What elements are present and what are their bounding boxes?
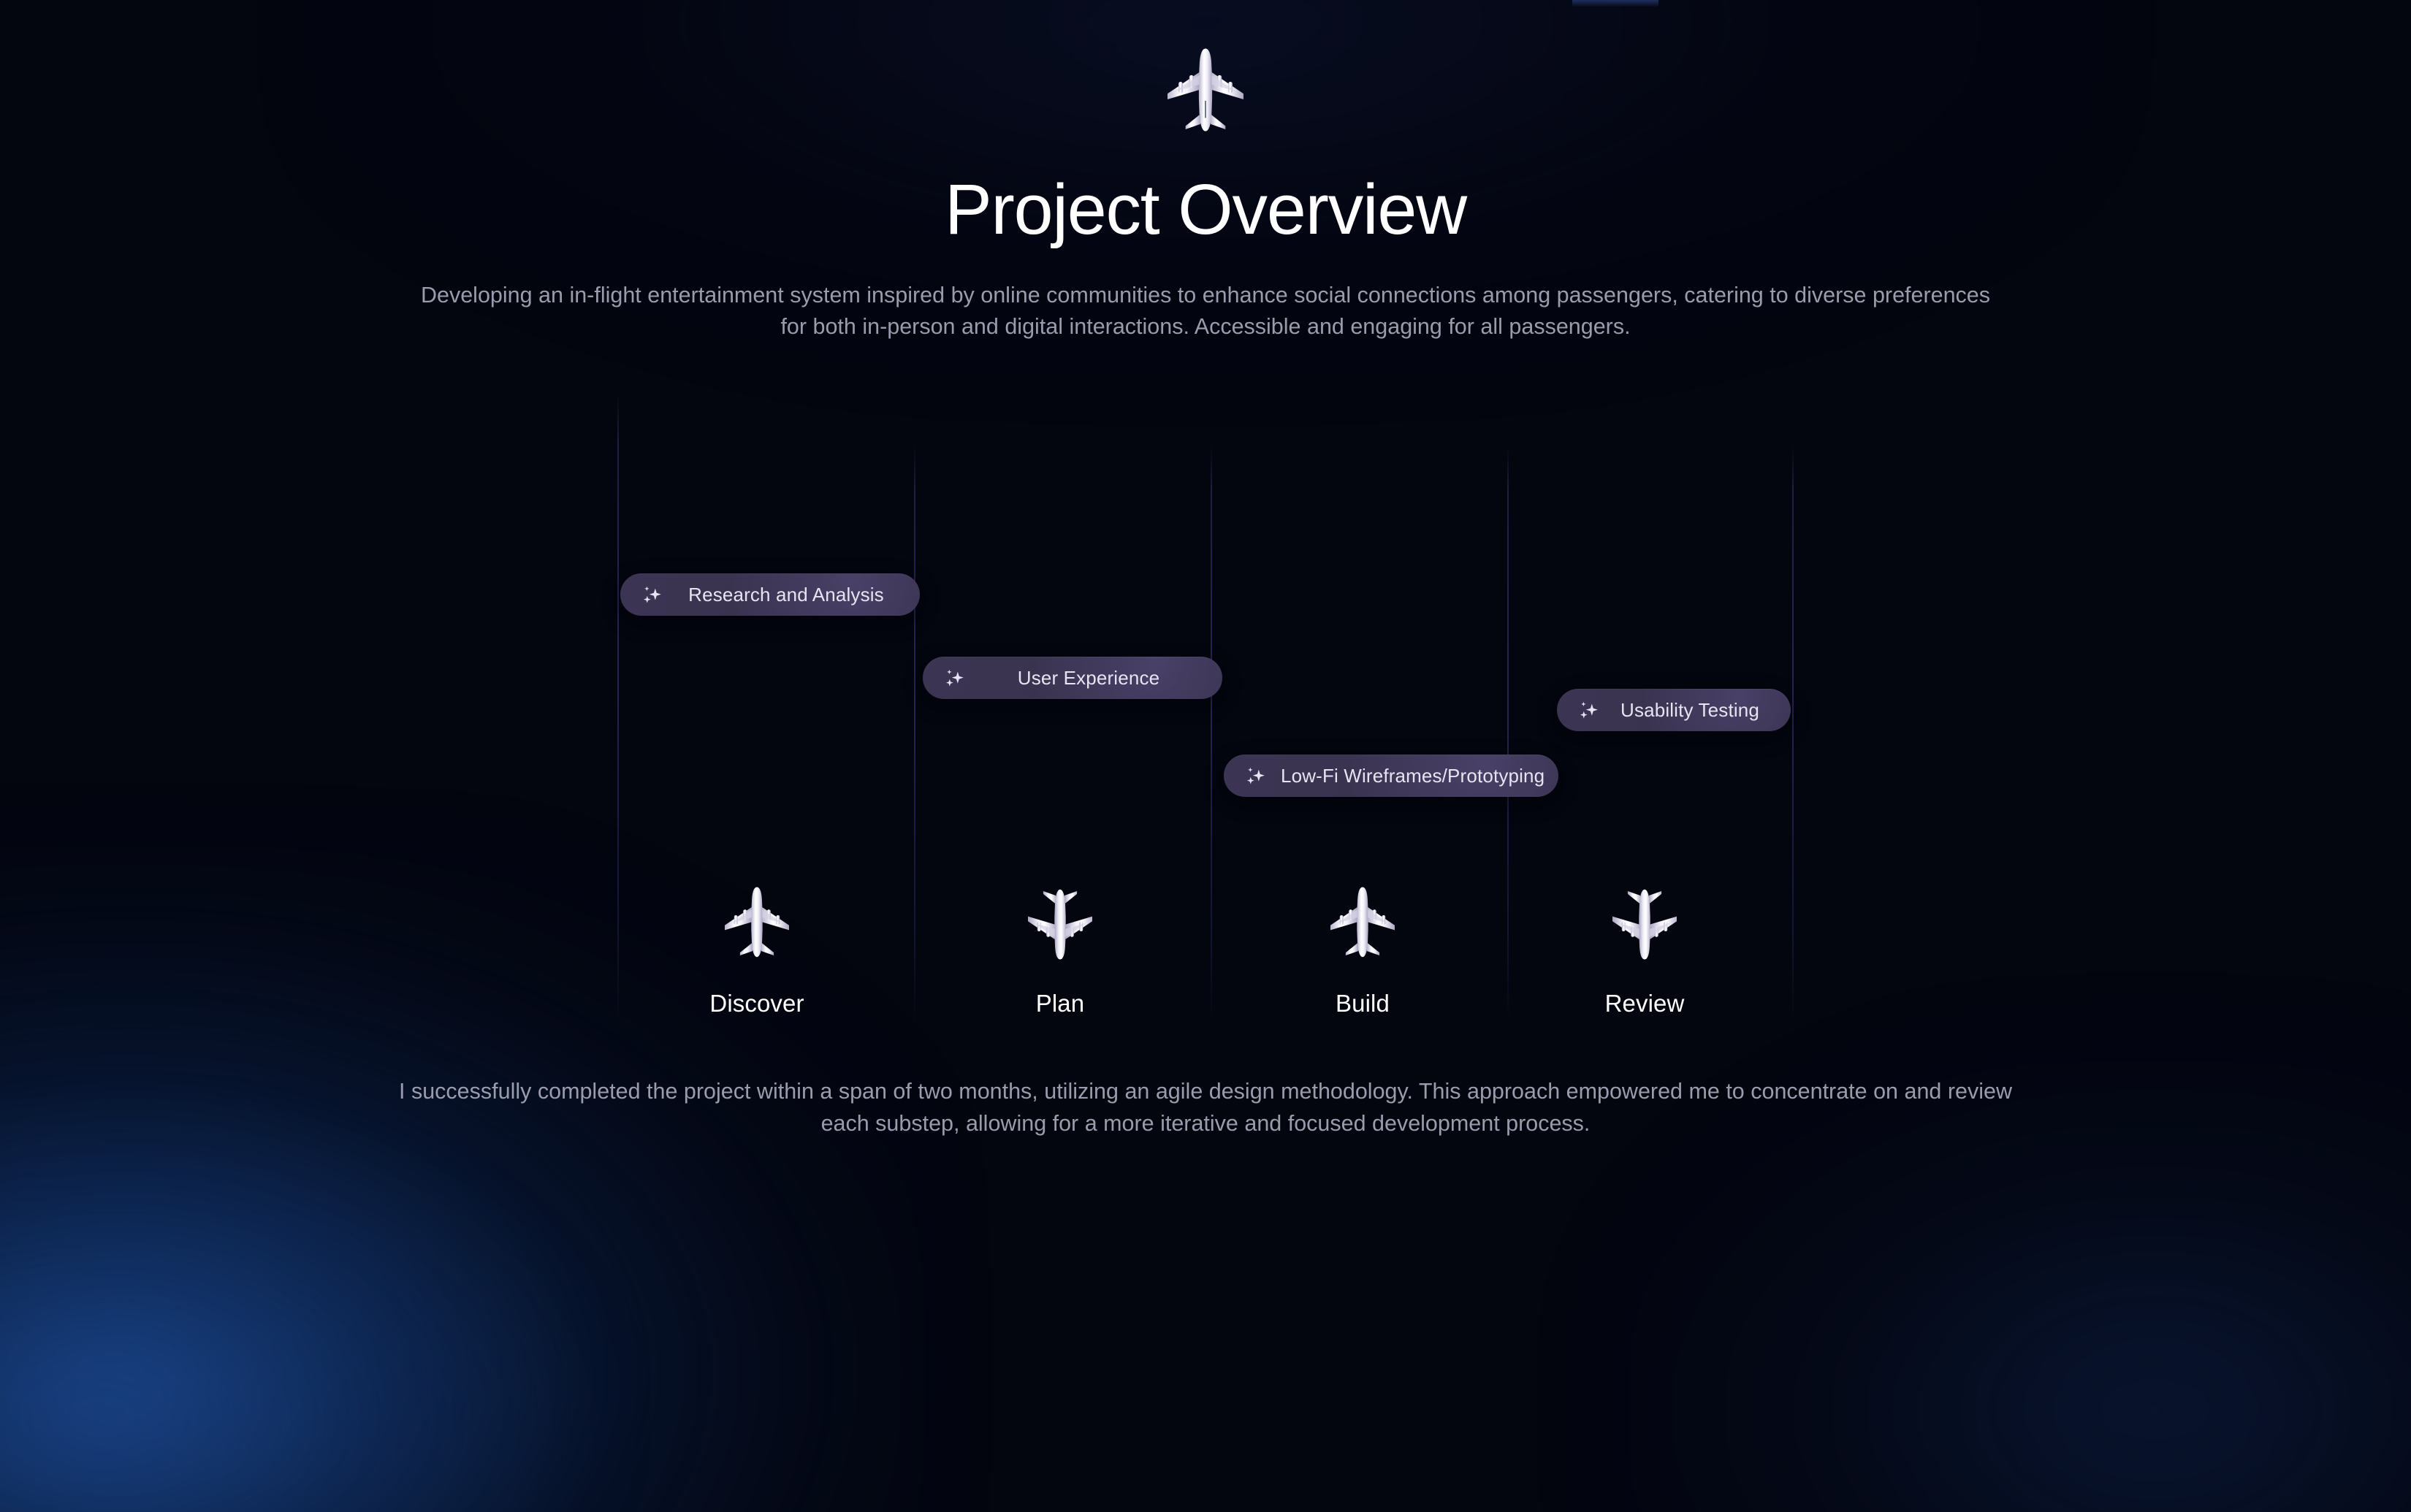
timeline-stage-label: Build — [1336, 990, 1390, 1017]
airplane-icon — [1158, 44, 1253, 139]
page-content: Project Overview Developing an in-flight… — [0, 0, 2411, 1166]
page-subtitle: Developing an in-flight entertainment sy… — [420, 280, 1991, 343]
timeline: Research and Analysis User Experience — [617, 372, 1794, 1102]
airplane-icon — [717, 883, 797, 963]
page-title: Project Overview — [0, 172, 2411, 248]
timeline-stage-label: Review — [1605, 990, 1685, 1017]
timeline-stage-build[interactable]: Build — [1290, 883, 1436, 1017]
timeline-stage-plan[interactable]: Plan — [987, 883, 1133, 1017]
page-footnote: I successfully completed the project wit… — [391, 1076, 2020, 1139]
airplane-icon — [1604, 883, 1685, 963]
airplane-icon — [1322, 883, 1403, 963]
hero-airplane-container — [0, 0, 2411, 139]
airplane-icon — [1020, 883, 1100, 963]
background-glow-bottom-left-inner — [0, 1139, 584, 1512]
project-overview-page: Project Overview Developing an in-flight… — [0, 0, 2411, 1512]
timeline-stage-label: Plan — [1036, 990, 1084, 1017]
timeline-stage-review[interactable]: Review — [1572, 883, 1718, 1017]
timeline-stages: Discover — [617, 372, 1794, 1102]
timeline-stage-label: Discover — [709, 990, 804, 1017]
timeline-stage-discover[interactable]: Discover — [684, 883, 830, 1017]
